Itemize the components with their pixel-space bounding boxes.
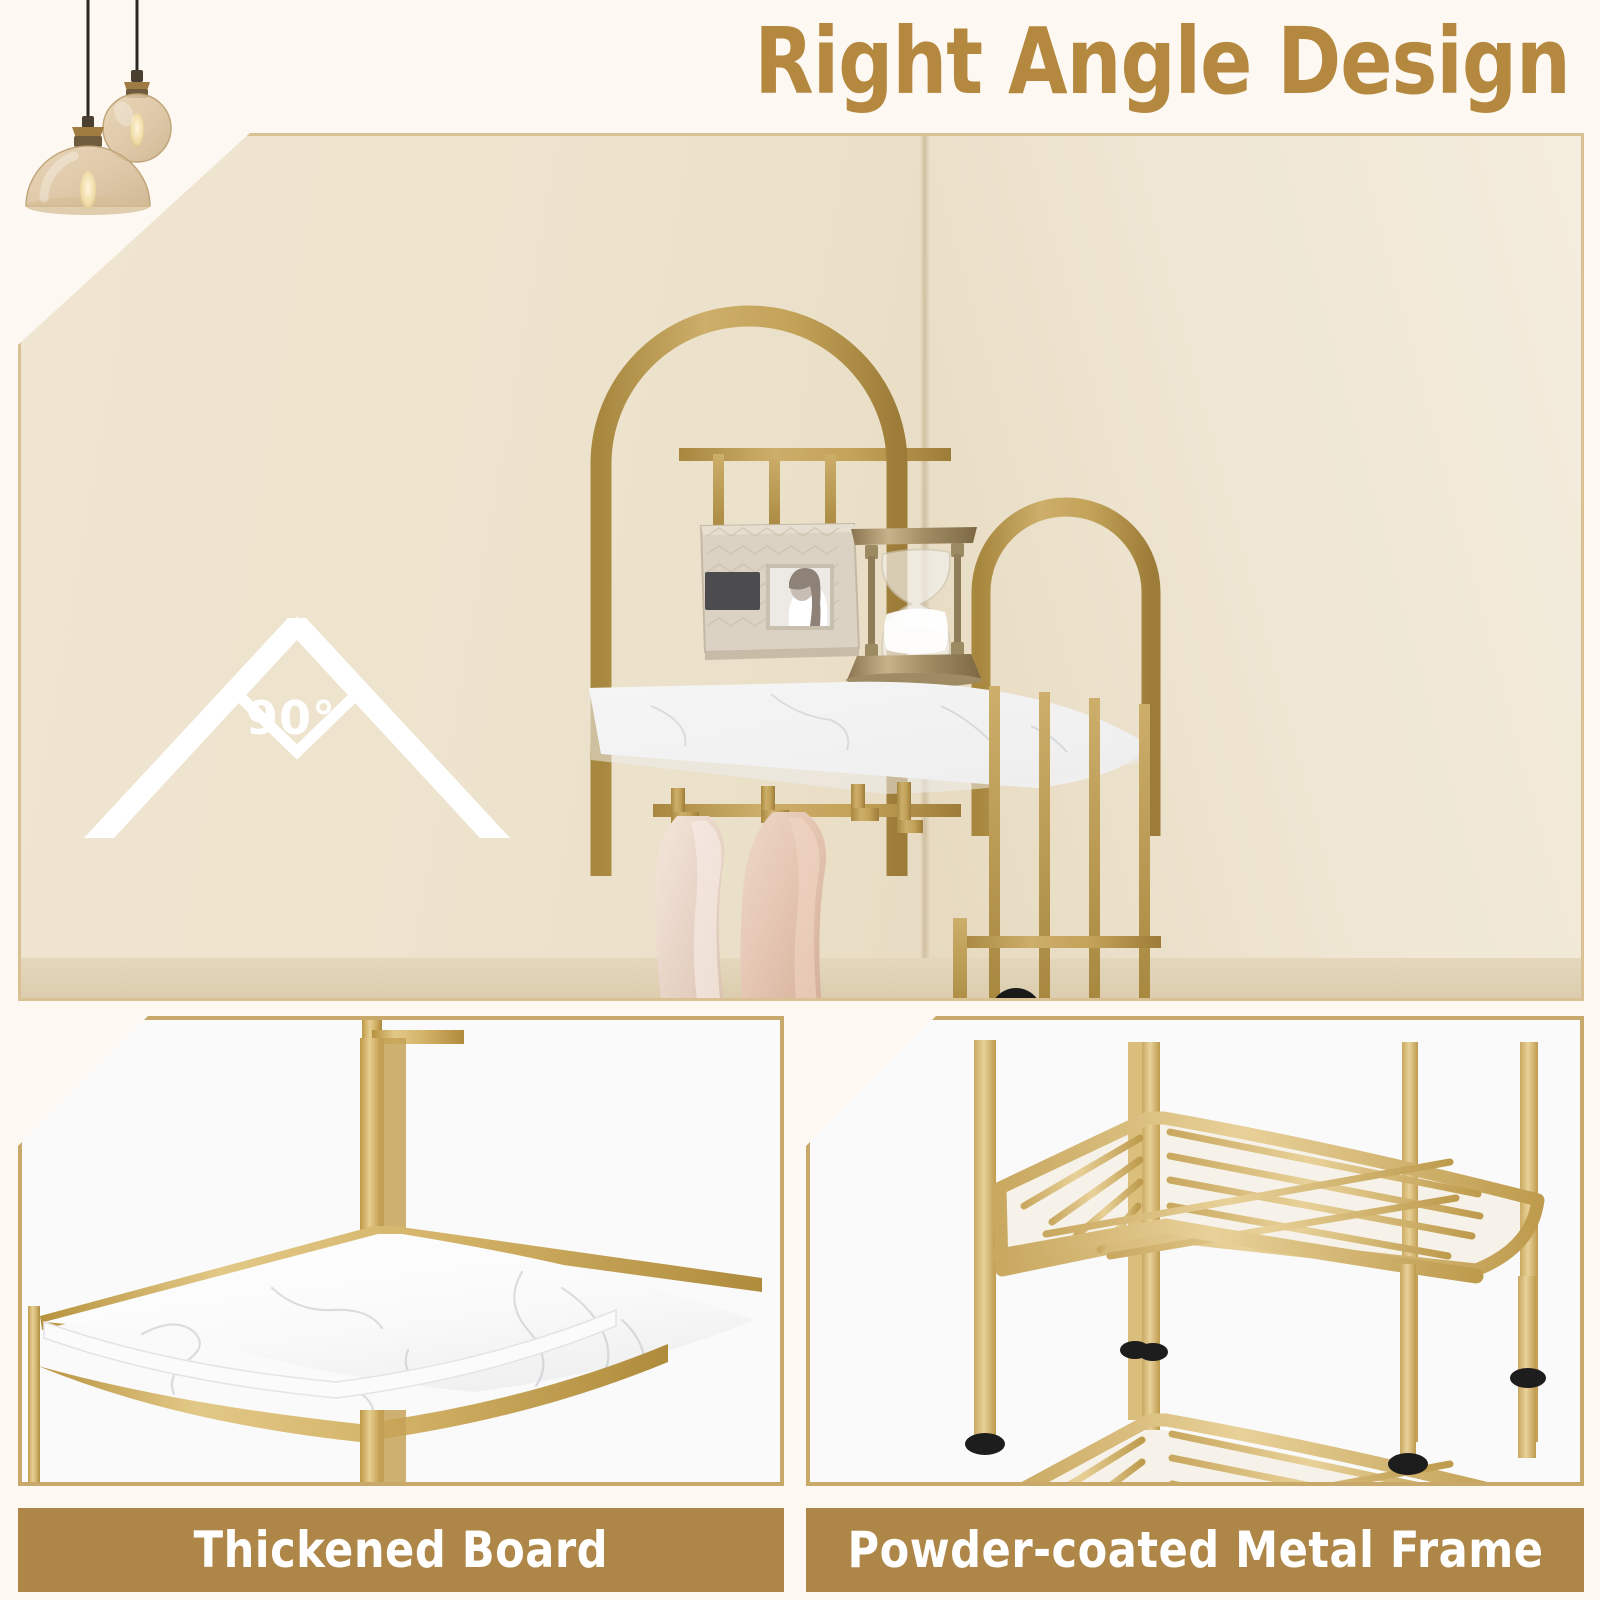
metal-frame-caption: Powder-coated Metal Frame bbox=[847, 1521, 1543, 1579]
marble-shelf-top bbox=[589, 682, 1147, 794]
shelf-arch-secondary bbox=[981, 507, 1151, 836]
leg-left bbox=[974, 1040, 996, 1440]
hanging-garments bbox=[655, 812, 826, 1001]
wire-grid-shelf-lower bbox=[1000, 1420, 1538, 1485]
wire-grid-shelf-upper bbox=[1000, 1118, 1538, 1276]
pendant-globe-lamp bbox=[103, 0, 171, 162]
metal-frame-caption-bar: Powder-coated Metal Frame bbox=[806, 1508, 1584, 1592]
metal-frame-panel bbox=[806, 1016, 1584, 1486]
frame-tab bbox=[705, 572, 760, 610]
corner-shelf-product bbox=[561, 236, 1221, 1001]
page-title: Right Angle Design bbox=[754, 8, 1570, 116]
thickened-board-panel bbox=[18, 1016, 784, 1486]
thickened-board-caption-bar: Thickened Board bbox=[18, 1508, 784, 1592]
angle-label: 90° bbox=[246, 691, 336, 745]
brass-hourglass bbox=[846, 527, 982, 687]
woven-photo-frame bbox=[701, 524, 859, 660]
thickened-board-caption: Thickened Board bbox=[194, 1521, 608, 1579]
hero-panel: 90° bbox=[18, 133, 1584, 1001]
portrait-photo bbox=[770, 568, 830, 626]
